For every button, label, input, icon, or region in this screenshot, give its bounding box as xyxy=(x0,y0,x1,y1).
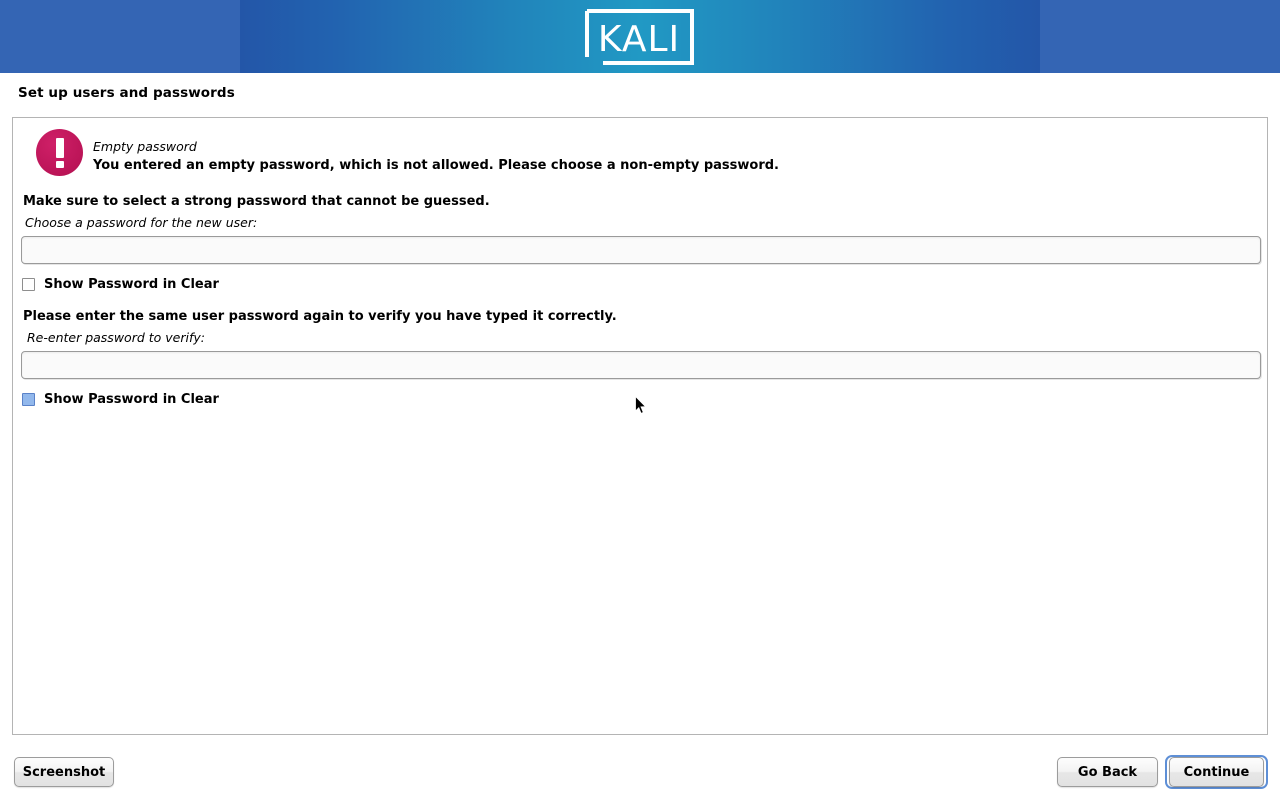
verify-field-label: Re-enter password to verify: xyxy=(27,330,205,345)
go-back-button[interactable]: Go Back xyxy=(1057,757,1158,787)
checkbox-box[interactable] xyxy=(22,278,35,291)
kali-banner: KALI xyxy=(0,0,1280,73)
show-password-in-clear-checkbox-1[interactable]: Show Password in Clear xyxy=(22,277,219,292)
screenshot-button[interactable]: Screenshot xyxy=(14,757,114,787)
show-password-in-clear-checkbox-2[interactable]: Show Password in Clear xyxy=(22,392,219,407)
installer-content-panel: Empty password You entered an empty pass… xyxy=(12,117,1268,735)
kali-logo-text: KALI xyxy=(598,19,680,60)
checkbox-box[interactable] xyxy=(22,393,35,406)
error-message: You entered an empty password, which is … xyxy=(93,158,779,173)
error-exclamation-icon xyxy=(36,129,83,176)
checkbox-label: Show Password in Clear xyxy=(44,277,219,292)
password-input[interactable] xyxy=(21,236,1261,264)
page-title: Set up users and passwords xyxy=(18,85,235,101)
verify-password-input[interactable] xyxy=(21,351,1261,379)
checkbox-label: Show Password in Clear xyxy=(44,392,219,407)
password-strength-hint: Make sure to select a strong password th… xyxy=(23,194,490,209)
continue-button[interactable]: Continue xyxy=(1169,757,1264,787)
verify-password-hint: Please enter the same user password agai… xyxy=(23,309,617,324)
kali-logo-icon: KALI xyxy=(583,7,696,67)
error-title: Empty password xyxy=(93,139,197,154)
password-field-label: Choose a password for the new user: xyxy=(25,215,257,230)
